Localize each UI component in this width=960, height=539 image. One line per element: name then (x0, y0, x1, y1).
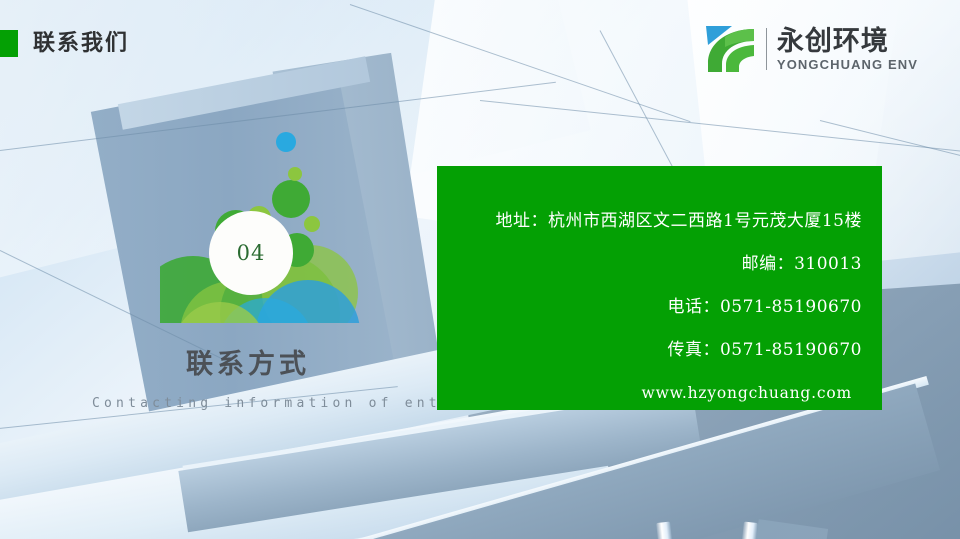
header-green-square-marker (0, 30, 18, 57)
contact-line-phone: 电话：0571-85190670 (461, 286, 862, 329)
section-number: 04 (237, 241, 266, 265)
decoration-circle (276, 132, 296, 152)
logo-name-cn: 永创环境 (777, 26, 918, 56)
contact-info-panel: 地址：杭州市西湖区文二西路1号元茂大厦15楼 邮编：310013 电话：0571… (437, 166, 882, 410)
contact-line-website[interactable]: www.hzyongchuang.com (461, 372, 862, 415)
logo-divider (766, 28, 767, 70)
yongchuang-swoosh-logo-icon (702, 23, 758, 75)
contact-line-address: 地址：杭州市西湖区文二西路1号元茂大厦15楼 (461, 200, 862, 243)
section-heading: 联系方式 (186, 347, 310, 381)
contact-line-fax: 传真：0571-85190670 (461, 329, 862, 372)
company-logo: 永创环境 YONGCHUANG ENV (702, 20, 918, 78)
slide-canvas: 联系我们 永创环境 YONGCHUANG ENV 04 联系方式 Contact… (0, 0, 960, 539)
contact-line-postcode: 邮编：310013 (461, 243, 862, 286)
decoration-circle (272, 180, 310, 218)
decoration-circle (288, 167, 302, 181)
section-number-badge: 04 (209, 211, 293, 295)
decoration-circle (304, 216, 320, 232)
logo-text-block: 永创环境 YONGCHUANG ENV (777, 26, 918, 72)
logo-name-en: YONGCHUANG ENV (777, 57, 918, 72)
page-title: 联系我们 (33, 28, 129, 58)
